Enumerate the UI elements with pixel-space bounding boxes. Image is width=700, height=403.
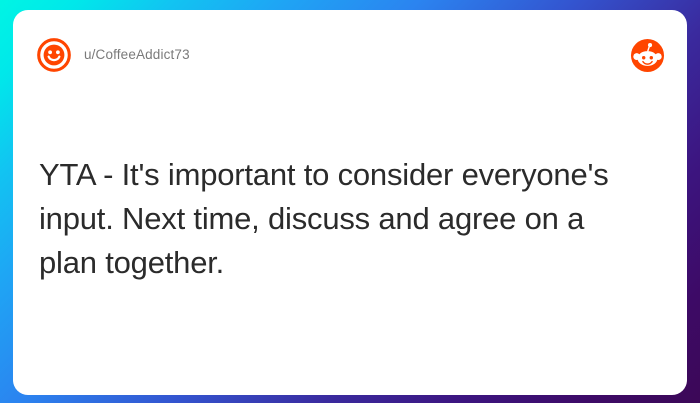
comment-text: YTA - It's important to consider everyon… [39,153,639,285]
username-label: u/CoffeeAddict73 [84,48,190,62]
smiley-face-icon[interactable] [37,38,71,72]
comment-card: u/CoffeeAddict73 YTA - It's [13,10,687,395]
reddit-snoo-icon[interactable] [630,38,665,73]
gradient-background: u/CoffeeAddict73 YTA - It's [0,0,700,403]
comment-header: u/CoffeeAddict73 [37,37,665,73]
